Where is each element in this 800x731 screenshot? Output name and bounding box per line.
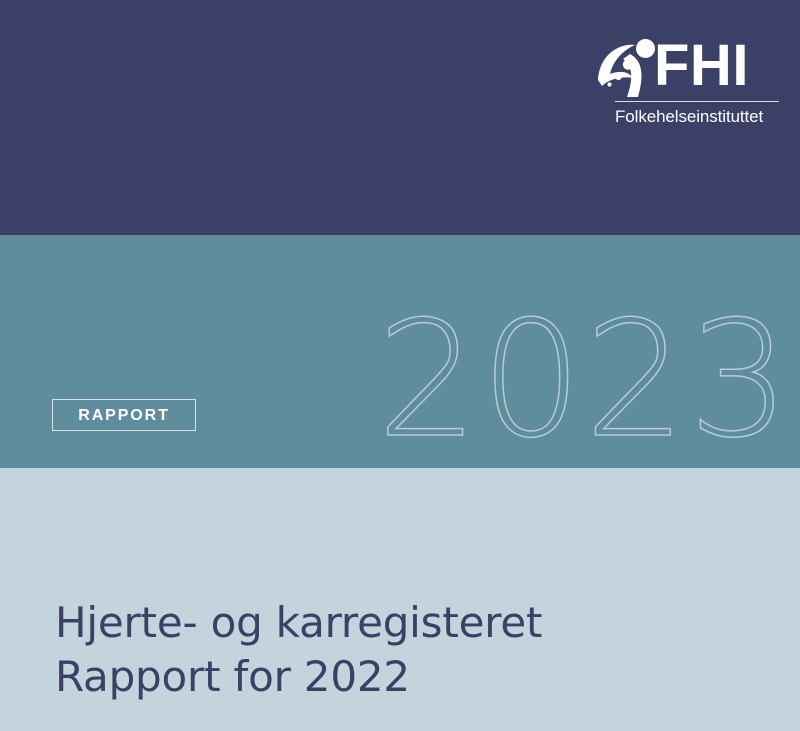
- fhi-wordmark: FHI: [654, 36, 769, 96]
- page-title-line-2: Rapport for 2022: [55, 650, 755, 704]
- report-cover: FHI Folkehelseinstituttet RAPPORT 2023 H…: [0, 0, 800, 731]
- page-title-line-1: Hjerte- og karregisteret: [55, 596, 755, 650]
- fhi-subtitle: Folkehelseinstituttet: [615, 106, 785, 128]
- status-badge: RAPPORT: [52, 399, 196, 431]
- logo-divider-rule: [615, 101, 779, 102]
- page-title: Hjerte- og karregisteret Rapport for 202…: [55, 596, 755, 704]
- year-watermark: 2023: [377, 300, 792, 460]
- fhi-figure-icon: [597, 38, 659, 98]
- fhi-logo: FHI Folkehelseinstituttet: [597, 36, 769, 128]
- status-badge-label: RAPPORT: [53, 407, 195, 425]
